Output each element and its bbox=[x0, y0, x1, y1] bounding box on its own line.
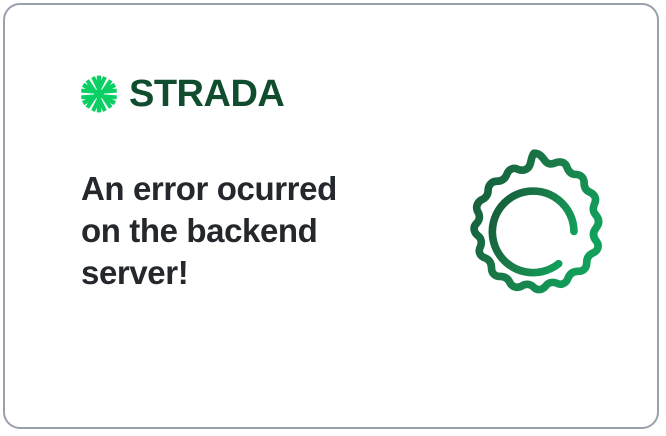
error-card: STRADA An error ocurred on the backend s… bbox=[3, 3, 659, 429]
brand-lockup: STRADA bbox=[79, 74, 284, 114]
error-message-headline: An error ocurred on the backend server! bbox=[81, 168, 381, 294]
broken-gear-icon bbox=[449, 143, 619, 313]
brand-wordmark: STRADA bbox=[129, 75, 284, 113]
strada-asterisk-icon bbox=[79, 74, 119, 114]
